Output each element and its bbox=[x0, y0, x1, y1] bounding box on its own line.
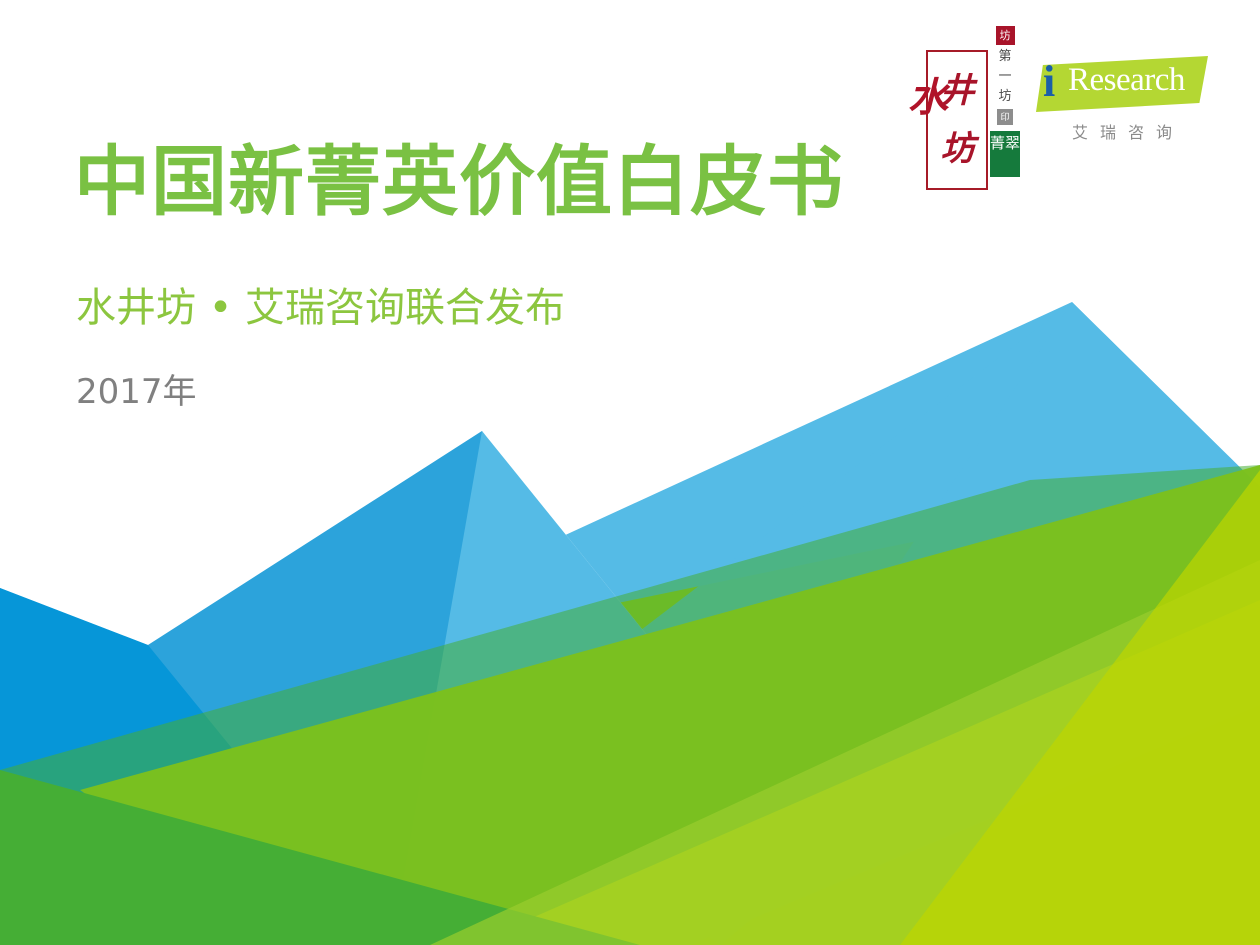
green-band-left-medium bbox=[0, 770, 640, 945]
blue-cross-overlap bbox=[560, 775, 1010, 945]
page-title: 中国新菁英价值白皮书 bbox=[74, 140, 844, 224]
green-left-mid-block bbox=[0, 465, 1260, 945]
iresearch-word: Research bbox=[1068, 64, 1185, 97]
lower-right-lime-triangle bbox=[360, 560, 1260, 945]
left-blue-slab bbox=[0, 588, 840, 945]
iresearch-logo: i Research 艾瑞咨询 bbox=[1036, 22, 1208, 143]
blue-above-green-left bbox=[0, 431, 760, 810]
green-yellow-right-edge bbox=[900, 470, 1260, 945]
cover-text-block: 中国新菁英价值白皮书 水井坊 • 艾瑞咨询联合发布 2017年 bbox=[74, 140, 844, 412]
shuijingfang-side-column: 坊 第 一 坊 印 菁翠 bbox=[990, 26, 1020, 177]
shuijingfang-logo: 井 坊 水 坊 第 一 坊 印 菁翠 bbox=[906, 22, 1018, 194]
shuijingfang-green-seal: 菁翠 bbox=[990, 131, 1020, 177]
shuijingfang-mid-seal-icon: 印 bbox=[997, 109, 1013, 125]
logo-bar: 井 坊 水 坊 第 一 坊 印 菁翠 i Research 艾瑞咨询 bbox=[906, 22, 1208, 194]
white-mask-right-upper bbox=[1072, 280, 1260, 487]
left-medium-green-band bbox=[0, 560, 1260, 945]
left-mountain-light-blue bbox=[120, 431, 860, 945]
iresearch-wordmark: i Research bbox=[1036, 56, 1208, 112]
blue-mountain-overlap bbox=[0, 431, 482, 945]
white-mask-valley bbox=[148, 431, 760, 775]
iresearch-i-letter: i bbox=[1043, 60, 1055, 104]
right-yellow-green-band bbox=[150, 470, 1260, 945]
iresearch-chinese-name: 艾瑞咨询 bbox=[1036, 119, 1208, 143]
left-mountain-body bbox=[120, 431, 760, 945]
lower-left-blue-wedge bbox=[0, 700, 560, 945]
page-subtitle: 水井坊 • 艾瑞咨询联合发布 bbox=[76, 284, 844, 332]
shuijingfang-side-char-2: 一 bbox=[998, 69, 1011, 85]
shuijingfang-top-seal-icon: 坊 bbox=[996, 26, 1015, 45]
publication-year: 2017年 bbox=[76, 372, 844, 413]
left-peak-highlight bbox=[270, 431, 700, 730]
shuijingfang-char-2: 坊 bbox=[941, 132, 974, 166]
left-edge-blue-body bbox=[0, 588, 392, 945]
shuijingfang-side-char-3: 坊 bbox=[998, 89, 1011, 105]
leaf-green-overlap-band bbox=[0, 470, 1260, 945]
green-lime-right bbox=[430, 560, 1260, 945]
shuijingfang-brush-char: 水 bbox=[908, 78, 948, 122]
cover-slide: 井 坊 水 坊 第 一 坊 印 菁翠 i Research 艾瑞咨询 中 bbox=[0, 0, 1260, 945]
green-band-upper bbox=[80, 465, 1260, 945]
shuijingfang-side-char-1: 第 bbox=[998, 49, 1011, 65]
